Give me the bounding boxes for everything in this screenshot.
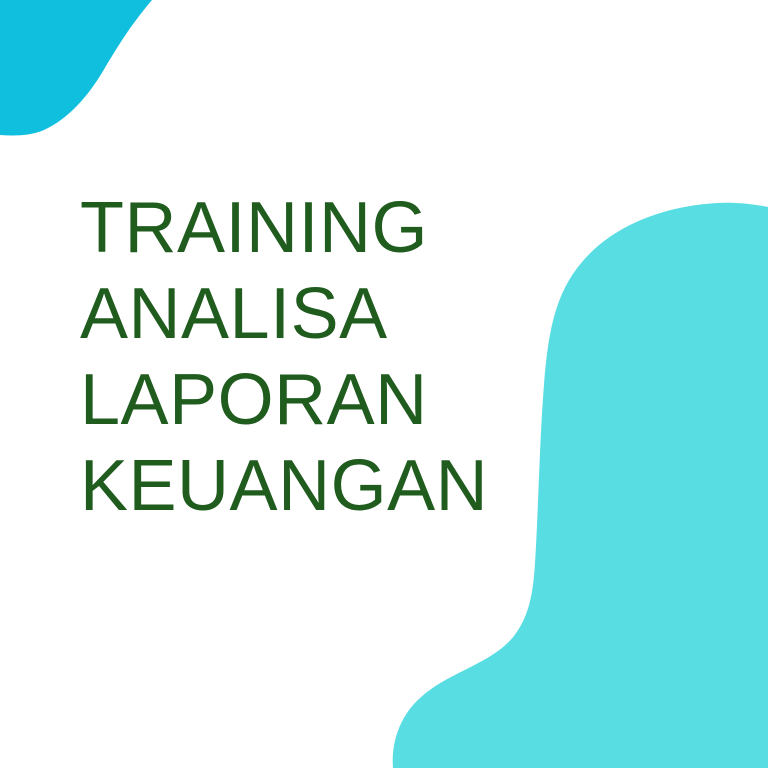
poster-title-block: TRAINING ANALISA LAPORAN KEUANGAN xyxy=(80,185,550,529)
title-line-3: LAPORAN xyxy=(80,357,550,443)
title-line-2: ANALISA xyxy=(80,271,550,357)
title-line-4: KEUANGAN xyxy=(80,443,550,529)
title-line-1: TRAINING xyxy=(80,185,550,271)
poster-canvas: TRAINING ANALISA LAPORAN KEUANGAN xyxy=(0,0,768,768)
